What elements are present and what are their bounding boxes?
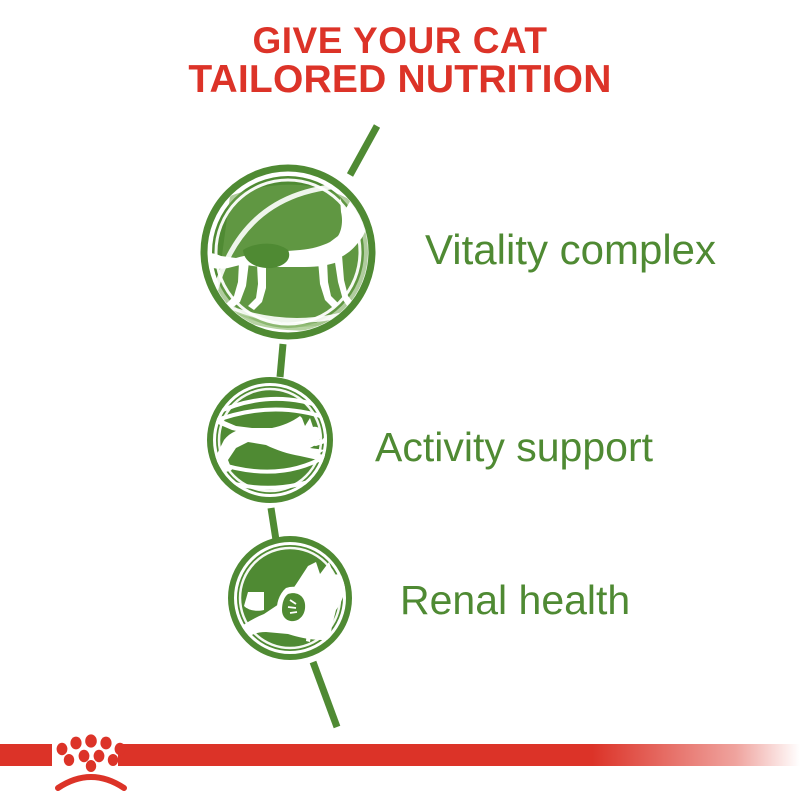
footer-bar [0,734,800,788]
crown-dot-mid-1 [64,754,74,766]
feature-icon-activity-support[interactable] [210,380,332,500]
dash-segment-2-3 [271,508,276,540]
dash-segment-bottom [313,662,337,727]
feature-label-vitality-complex: Vitality complex [425,226,716,274]
feature-icon-renal-health[interactable] [218,539,349,657]
crown-dot-top-2 [70,737,81,750]
poster-canvas: GIVE YOUR CAT TAILORED NUTRITION [0,0,800,800]
dash-segment-top [350,126,377,175]
crown-dot-mid-3 [94,750,105,762]
dash-segment-1-2 [280,344,283,377]
crown-arc [58,777,124,788]
crown-dot-center [86,760,96,772]
crown-dot-mid-4 [108,754,118,766]
crown-dot-mid-2 [79,750,90,762]
feature-icon-vitality-complex[interactable] [201,168,397,336]
crown-dot-top-1 [57,743,68,755]
features-diagram [0,0,800,800]
crown-dot-top-4 [100,737,111,750]
feature-label-renal-health: Renal health [400,577,630,624]
crown-dot-top-5 [115,743,126,755]
feature-label-activity-support: Activity support [375,424,653,471]
crown-dot-top-3 [85,734,97,747]
